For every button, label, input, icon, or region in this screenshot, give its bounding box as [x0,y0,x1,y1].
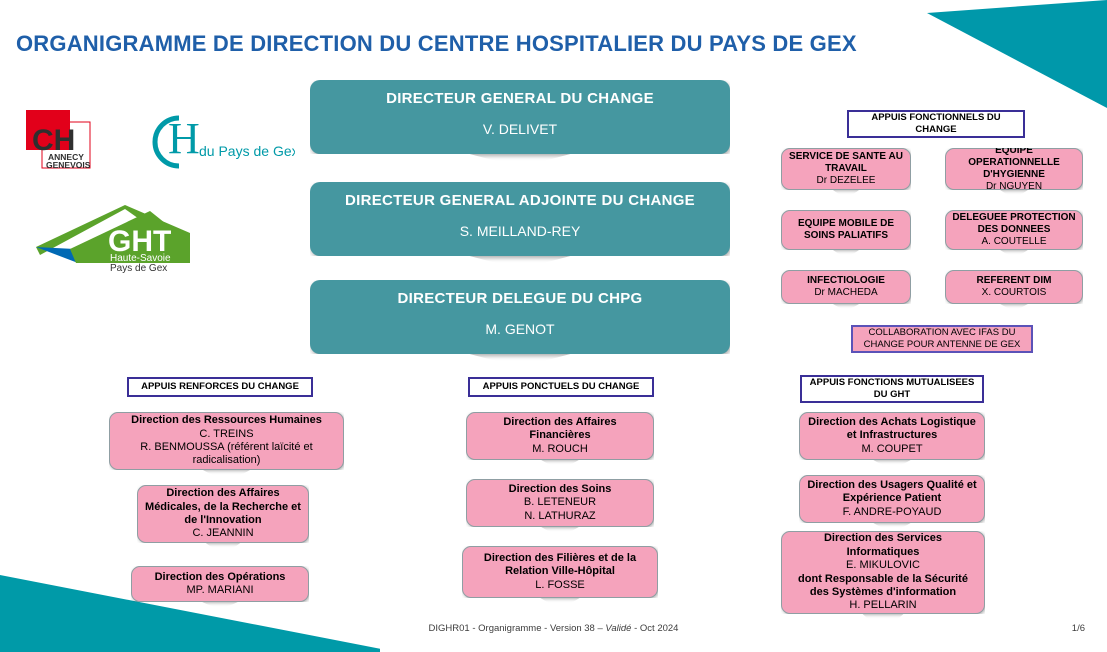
pink-box-infectiologie[interactable]: INFECTIOLOGIE Dr MACHEDA [781,270,911,304]
page-title: ORGANIGRAMME DE DIRECTION DU CENTRE HOSP… [16,30,876,58]
pink-box-title: Direction des Affaires Financières [473,416,647,443]
pink-box-person-secondary: H. PELLARIN [849,599,916,612]
pink-box-person: A. COUTELLE [981,236,1046,248]
pink-box-person: Dr MACHEDA [814,287,877,299]
pink-box-direction-operations[interactable]: Direction des Opérations MP. MARIANI [131,566,309,602]
pink-box-person: B. LETENEUR N. LATHURAZ [524,496,596,523]
pink-box-collaboration-ifas[interactable]: COLLABORATION AVEC IFAS DU CHANGE POUR A… [851,325,1033,353]
pink-box-service-sante-travail[interactable]: SERVICE DE SANTE AU TRAVAIL Dr DEZELEE [781,148,911,190]
ch-annecy-genevois-logo-svg: CH ANNECY GENEVOIS [18,108,113,174]
svg-text:H: H [168,114,200,163]
pink-box-person: C. TREINS R. BENMOUSSA (référent laïcité… [116,428,337,468]
pink-box-person: E. MIKULOVIC [846,559,920,572]
pink-box-title-secondary: dont Responsable de la Sécurité des Syst… [788,573,978,600]
org-box-title: DIRECTEUR GENERAL ADJOINTE DU CHANGE [324,192,716,209]
pink-box-title: Direction des Soins [509,483,612,496]
footer-document-reference: DIGHR01 - Organigramme - Version 38 – Va… [0,623,1107,634]
footer-status: Validé [605,623,631,634]
pink-box-title: Direction des Ressources Humaines [131,414,322,427]
pink-box-direction-ressources-humaines[interactable]: Direction des Ressources Humaines C. TRE… [109,412,344,470]
ght-haute-savoie-pays-de-gex-logo: GHT Haute-Savoie Pays de Gex [30,203,205,273]
pink-box-title: EQUIPE OPERATIONNELLE D'HYGIENNE [952,145,1076,182]
pink-box-person: Dr DEZELEE [817,175,876,187]
org-box-directeur-general[interactable]: DIRECTEUR GENERAL DU CHANGE V. DELIVET [310,80,730,154]
pink-box-title: REFERENT DIM [977,275,1052,287]
org-box-person: M. GENOT [324,321,716,337]
svg-text:GENEVOIS: GENEVOIS [46,160,91,170]
pink-box-title: Direction des Opérations [155,571,286,584]
org-box-title: DIRECTEUR DELEGUE DU CHPG [324,290,716,307]
decorative-teal-corner-top-right [927,0,1107,108]
section-header-appuis-ponctuels: APPUIS PONCTUELS DU CHANGE [468,377,654,397]
pink-box-person: M. COUPET [861,443,922,456]
pink-box-deleguee-protection-donnees[interactable]: DELEGUEE PROTECTION DES DONNEES A. COUTE… [945,210,1083,250]
pink-box-direction-achats-logistique[interactable]: Direction des Achats Logistique et Infra… [799,412,985,460]
pink-box-equipe-mobile-soins-paliatifs[interactable]: EQUIPE MOBILE DE SOINS PALIATIFS [781,210,911,250]
pink-box-referent-dim[interactable]: REFERENT DIM X. COURTOIS [945,270,1083,304]
pink-box-title: Direction des Achats Logistique et Infra… [806,416,978,443]
pink-box-title: Direction des Usagers Qualité et Expérie… [806,479,978,506]
pink-box-person: M. ROUCH [532,443,588,456]
pink-box-person: C. JEANNIN [192,527,253,540]
pink-box-person: X. COURTOIS [982,287,1047,299]
pink-box-title: DELEGUEE PROTECTION DES DONNEES [952,212,1076,236]
section-header-appuis-renforces: APPUIS RENFORCES DU CHANGE [127,377,313,397]
svg-text:du Pays de Gex: du Pays de Gex [199,143,295,159]
pink-box-direction-usagers-qualite[interactable]: Direction des Usagers Qualité et Expérie… [799,475,985,523]
pink-box-person: L. FOSSE [535,579,585,592]
svg-text:Pays de Gex: Pays de Gex [110,263,167,273]
org-box-title: DIRECTEUR GENERAL DU CHANGE [324,90,716,107]
pink-box-direction-affaires-financieres[interactable]: Direction des Affaires Financières M. RO… [466,412,654,460]
org-box-person: V. DELIVET [324,121,716,137]
org-box-person: S. MEILLAND-REY [324,223,716,239]
section-header-appuis-fonctions-mutualisees: APPUIS FONCTIONS MUTUALISEES DU GHT [800,375,984,403]
pink-box-title: Direction des Services Informatiques [788,532,978,559]
pink-box-person: MP. MARIANI [186,584,253,597]
pink-box-direction-filieres-relation-ville-hopital[interactable]: Direction des Filières et de la Relation… [462,546,658,598]
ch-annecy-genevois-logo: CH ANNECY GENEVOIS [18,108,113,174]
pink-box-direction-soins[interactable]: Direction des Soins B. LETENEUR N. LATHU… [466,479,654,527]
page-number: 1/6 [1072,623,1085,634]
slide-canvas: ORGANIGRAMME DE DIRECTION DU CENTRE HOSP… [0,0,1107,652]
ch-du-pays-de-gex-logo-svg: H du Pays de Gex [135,108,295,174]
ch-du-pays-de-gex-logo: H du Pays de Gex [135,108,295,174]
footer-suffix: - Oct 2024 [631,623,678,634]
org-box-directeur-general-adjointe[interactable]: DIRECTEUR GENERAL ADJOINTE DU CHANGE S. … [310,182,730,256]
pink-box-person: Dr NGUYEN [986,181,1042,193]
pink-box-title: INFECTIOLOGIE [807,275,885,287]
pink-box-direction-affaires-medicales[interactable]: Direction des Affaires Médicales, de la … [137,485,309,543]
section-header-appuis-fonctionnels: APPUIS FONCTIONNELS DU CHANGE [847,110,1025,138]
pink-box-title: SERVICE DE SANTE AU TRAVAIL [788,151,904,175]
pink-box-person: F. ANDRE-POYAUD [843,506,942,519]
pink-box-direction-services-informatiques[interactable]: Direction des Services Informatiques E. … [781,531,985,614]
pink-box-equipe-operationnelle-hygienne[interactable]: EQUIPE OPERATIONNELLE D'HYGIENNE Dr NGUY… [945,148,1083,190]
pink-box-title: Direction des Filières et de la Relation… [469,552,651,579]
ght-logo-svg: GHT Haute-Savoie Pays de Gex [30,203,205,273]
org-box-directeur-delegue-chpg[interactable]: DIRECTEUR DELEGUE DU CHPG M. GENOT [310,280,730,354]
pink-box-title: Direction des Affaires Médicales, de la … [144,487,302,527]
footer-prefix: DIGHR01 - Organigramme - Version 38 – [429,623,606,634]
pink-box-title: EQUIPE MOBILE DE SOINS PALIATIFS [788,218,904,242]
